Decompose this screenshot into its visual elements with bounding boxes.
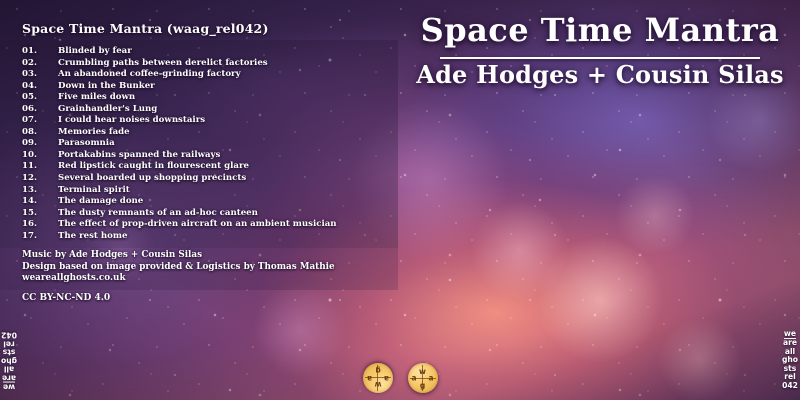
back-cover-panel: Space Time Mantra (waag_rel042) 01.Blind… <box>0 0 400 400</box>
front-cover-panel: Space Time Mantra Ade Hodges + Cousin Si… <box>400 0 800 400</box>
front-cover-artists: Ade Hodges + Cousin Silas <box>400 60 800 90</box>
track-row[interactable]: 17.The rest home <box>0 231 398 243</box>
waag-label-logo[interactable]: w a a g <box>363 363 393 393</box>
track-number: 01. <box>22 46 56 58</box>
track-number: 17. <box>22 231 56 243</box>
track-row[interactable]: 14.The damage done <box>0 196 398 208</box>
license-badge: CC BY-NC-ND 4.0 <box>22 293 110 303</box>
back-cover-title: Space Time Mantra (waag_rel042) <box>22 21 269 36</box>
track-number: 09. <box>22 138 56 150</box>
credits-line-music: Music by Ade Hodges + Cousin Silas <box>22 250 335 262</box>
track-title: Five miles down <box>58 92 135 104</box>
track-row[interactable]: 03.An abandoned coffee-grinding factory <box>0 69 398 81</box>
logo-letter-right: a <box>428 374 433 382</box>
waag-label-logo[interactable]: w a a g <box>408 363 438 393</box>
track-row[interactable]: 02.Crumbling paths between derelict fact… <box>0 58 398 70</box>
track-number: 16. <box>22 219 56 231</box>
track-title: Crumbling paths between derelict factori… <box>58 58 268 70</box>
logo-letter-top: w <box>419 368 426 376</box>
track-row[interactable]: 11.Red lipstick caught in flourescent gl… <box>0 161 398 173</box>
track-row[interactable]: 10.Portakabins spanned the railways <box>0 150 398 162</box>
track-number: 03. <box>22 69 56 81</box>
track-row[interactable]: 08.Memories fade <box>0 127 398 139</box>
spine-line: sts <box>0 347 18 356</box>
track-title: Terminal spirit <box>58 185 130 197</box>
track-title: The effect of prop-driven aircraft on an… <box>58 219 337 231</box>
track-title: Grainhandler's Lung <box>58 104 157 116</box>
track-row[interactable]: 15.The dusty remnants of an ad-hoc cante… <box>0 208 398 220</box>
track-row[interactable]: 16.The effect of prop-driven aircraft on… <box>0 219 398 231</box>
credits-line-website[interactable]: weareallghosts.co.uk <box>22 273 335 285</box>
track-number: 10. <box>22 150 56 162</box>
track-title: Down in the Bunker <box>58 81 155 93</box>
track-number: 14. <box>22 196 56 208</box>
track-title: The dusty remnants of an ad-hoc canteen <box>58 208 258 220</box>
credits-block: Music by Ade Hodges + Cousin Silas Desig… <box>22 250 335 285</box>
track-title: Several boarded up shopping precincts <box>58 173 246 185</box>
track-number: 12. <box>22 173 56 185</box>
spine-line: 042 <box>0 330 18 339</box>
track-row[interactable]: 13.Terminal spirit <box>0 185 398 197</box>
track-number: 08. <box>22 127 56 139</box>
track-row[interactable]: 04.Down in the Bunker <box>0 81 398 93</box>
track-number: 04. <box>22 81 56 93</box>
logo-letter-right: a <box>367 374 372 382</box>
front-cover-title: Space Time Mantra <box>400 12 800 48</box>
logo-letter-left: a <box>383 374 388 382</box>
logo-letter-bottom: g <box>420 382 425 390</box>
credits-line-design: Design based on image provided & Logisti… <box>22 262 335 274</box>
track-title: Memories fade <box>58 127 130 139</box>
track-number: 06. <box>22 104 56 116</box>
logo-letter-left: a <box>412 374 417 382</box>
track-row[interactable]: 01.Blinded by fear <box>0 46 398 58</box>
logo-letter-bottom: g <box>375 367 380 375</box>
track-row[interactable]: 05.Five miles down <box>0 92 398 104</box>
album-cover: Space Time Mantra (waag_rel042) 01.Blind… <box>0 0 800 400</box>
track-title: Red lipstick caught in flourescent glare <box>58 161 249 173</box>
tracklist: 01.Blinded by fear02.Crumbling paths bet… <box>0 46 398 242</box>
logo-letter-top: w <box>374 381 381 389</box>
track-title: I could hear noises downstairs <box>58 115 205 127</box>
track-row[interactable]: 09.Parasomnia <box>0 138 398 150</box>
track-title: The damage done <box>58 196 143 208</box>
track-row[interactable]: 12.Several boarded up shopping precincts <box>0 173 398 185</box>
track-number: 07. <box>22 115 56 127</box>
track-title: Blinded by fear <box>58 46 132 58</box>
label-logo-group: w a a g w a a g <box>0 361 800 395</box>
track-number: 02. <box>22 58 56 70</box>
track-row[interactable]: 06.Grainhandler's Lung <box>0 104 398 116</box>
track-title: Parasomnia <box>58 138 115 150</box>
track-title: The rest home <box>58 231 127 243</box>
track-title: An abandoned coffee-grinding factory <box>58 69 241 81</box>
track-number: 15. <box>22 208 56 220</box>
track-number: 11. <box>22 161 56 173</box>
spine-line: rel <box>0 339 18 348</box>
track-number: 05. <box>22 92 56 104</box>
title-divider-rule <box>440 57 760 59</box>
track-title: Portakabins spanned the railways <box>58 150 220 162</box>
track-number: 13. <box>22 185 56 197</box>
track-row[interactable]: 07.I could hear noises downstairs <box>0 115 398 127</box>
